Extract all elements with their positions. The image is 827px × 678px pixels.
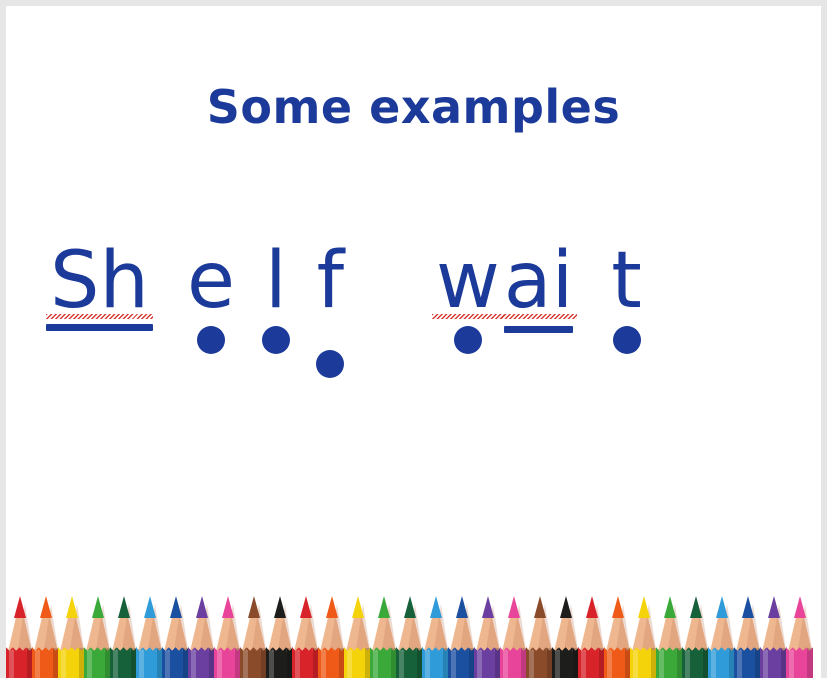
window-edge-top-inner	[6, 6, 821, 9]
pencil-barrel	[266, 652, 293, 678]
pencil-highlight	[61, 650, 66, 678]
pencil-barrel	[760, 652, 787, 678]
pencil-highlight	[789, 650, 794, 678]
pencil-highlight	[87, 650, 92, 678]
grapheme-sh[interactable]: Sh	[48, 242, 151, 320]
pencil-highlight	[399, 650, 404, 678]
pencil-lead-tip	[586, 596, 598, 618]
grapheme-e-letters: e	[185, 242, 237, 320]
pencil-lead-tip	[742, 596, 754, 618]
pencil-lead-tip	[66, 596, 78, 618]
pencil-barrel	[370, 652, 397, 678]
pencil-lead-tip	[352, 596, 364, 618]
pencil-border-decoration	[6, 578, 821, 678]
word-examples-row: Sh e l f	[6, 242, 821, 422]
pencil-lead-tip	[274, 596, 286, 618]
pencil-8	[188, 578, 215, 678]
pencil-barrel	[786, 652, 813, 678]
pencil-27	[682, 578, 709, 678]
pencil-lead-tip	[638, 596, 650, 618]
pencil-20	[500, 578, 527, 678]
pencil-24	[604, 578, 631, 678]
pencil-lead-tip	[508, 596, 520, 618]
pencil-lead-tip	[430, 596, 442, 618]
pencil-barrel	[318, 652, 345, 678]
pencil-barrel	[448, 652, 475, 678]
pencil-barrel	[396, 652, 423, 678]
grapheme-l[interactable]: l	[263, 242, 289, 320]
pencil-lead-tip	[378, 596, 390, 618]
pencil-barrel	[292, 652, 319, 678]
slide-window: Some examples Sh e l	[0, 0, 827, 678]
pencil-29	[734, 578, 761, 678]
pencil-highlight	[555, 650, 560, 678]
pencil-barrel	[214, 652, 241, 678]
pencil-10	[240, 578, 267, 678]
pencil-31	[786, 578, 813, 678]
pencil-lead-tip	[534, 596, 546, 618]
pencil-barrel	[162, 652, 189, 678]
grapheme-ai-letters: ai	[502, 242, 575, 320]
pencil-7	[162, 578, 189, 678]
pencil-4	[84, 578, 111, 678]
pencil-23	[578, 578, 605, 678]
pencil-5	[110, 578, 137, 678]
pencil-highlight	[581, 650, 586, 678]
pencil-barrel	[422, 652, 449, 678]
pencil-barrel	[500, 652, 527, 678]
pencil-3	[58, 578, 85, 678]
pencil-barrel	[84, 652, 111, 678]
digraph-bar-sh[interactable]	[46, 324, 153, 331]
pencil-barrel	[604, 652, 631, 678]
sound-dot-w[interactable]	[454, 326, 482, 354]
pencil-barrel	[682, 652, 709, 678]
pencil-highlight	[763, 650, 768, 678]
pencil-barrel	[188, 652, 215, 678]
pencil-highlight	[217, 650, 222, 678]
pencil-highlight	[685, 650, 690, 678]
word-shelf: Sh e l f	[48, 242, 346, 320]
pencil-barrel	[58, 652, 85, 678]
pencil-barrel	[526, 652, 553, 678]
pencil-lead-tip	[768, 596, 780, 618]
sound-dot-e[interactable]	[197, 326, 225, 354]
pencil-highlight	[269, 650, 274, 678]
pencil-12	[292, 578, 319, 678]
pencil-26	[656, 578, 683, 678]
pencil-highlight	[477, 650, 482, 678]
pencil-highlight	[295, 650, 300, 678]
pencil-highlight	[9, 650, 14, 678]
pencil-barrel	[630, 652, 657, 678]
sound-dot-t[interactable]	[613, 326, 641, 354]
pencil-lead-tip	[482, 596, 494, 618]
pencil-highlight	[711, 650, 716, 678]
pencil-highlight	[321, 650, 326, 678]
pencil-barrel	[578, 652, 605, 678]
pencil-highlight	[113, 650, 118, 678]
pencil-16	[396, 578, 423, 678]
pencil-highlight	[607, 650, 612, 678]
pencil-highlight	[347, 650, 352, 678]
pencil-barrel	[32, 652, 59, 678]
pencil-14	[344, 578, 371, 678]
pencil-15	[370, 578, 397, 678]
grapheme-t-letters: t	[609, 242, 644, 320]
pencil-lead-tip	[456, 596, 468, 618]
pencil-highlight	[425, 650, 430, 678]
digraph-bar-ai[interactable]	[504, 326, 573, 333]
pencil-lead-tip	[144, 596, 156, 618]
pencil-lead-tip	[196, 596, 208, 618]
pencil-6	[136, 578, 163, 678]
grapheme-l-letters: l	[263, 242, 289, 320]
pencil-22	[552, 578, 579, 678]
pencil-19	[474, 578, 501, 678]
pencil-lead-tip	[222, 596, 234, 618]
pencil-lead-tip	[300, 596, 312, 618]
pencil-lead-tip	[40, 596, 52, 618]
pencil-13	[318, 578, 345, 678]
pencil-shading	[807, 648, 813, 678]
pencil-highlight	[139, 650, 144, 678]
pencil-barrel	[474, 652, 501, 678]
pencil-21	[526, 578, 553, 678]
pencil-barrel	[656, 652, 683, 678]
grapheme-w[interactable]: w	[434, 242, 502, 320]
grapheme-w-letters: w	[434, 242, 502, 320]
pencil-barrel	[240, 652, 267, 678]
pencil-barrel	[708, 652, 735, 678]
pencil-lead-tip	[716, 596, 728, 618]
pencil-barrel	[344, 652, 371, 678]
pencil-highlight	[633, 650, 638, 678]
slide-canvas: Some examples Sh e l	[6, 6, 821, 678]
pencil-lead-tip	[326, 596, 338, 618]
sound-dot-l[interactable]	[262, 326, 290, 354]
pencil-lead-tip	[14, 596, 26, 618]
window-edge-left	[0, 0, 6, 678]
grapheme-f-letters: f	[315, 242, 346, 320]
pencil-1	[6, 578, 33, 678]
pencil-barrel	[110, 652, 137, 678]
pencil-11	[266, 578, 293, 678]
pencil-barrel	[6, 652, 33, 678]
grapheme-t[interactable]: t	[609, 242, 644, 320]
pencil-lead-tip	[248, 596, 260, 618]
pencil-28	[708, 578, 735, 678]
grapheme-sh-letters: Sh	[48, 242, 151, 320]
pencil-highlight	[737, 650, 742, 678]
pencil-highlight	[191, 650, 196, 678]
sound-dot-f[interactable]	[316, 350, 344, 378]
pencil-18	[448, 578, 475, 678]
pencil-highlight	[243, 650, 248, 678]
pencil-30	[760, 578, 787, 678]
window-edge-right	[821, 0, 827, 678]
page-title: Some examples	[6, 84, 821, 130]
pencil-barrel	[734, 652, 761, 678]
word-wait: w ai t	[434, 242, 644, 320]
pencil-lead-tip	[170, 596, 182, 618]
pencil-25	[630, 578, 657, 678]
grapheme-f[interactable]: f	[315, 242, 346, 320]
pencil-highlight	[503, 650, 508, 678]
pencil-lead-tip	[118, 596, 130, 618]
pencil-lead-tip	[92, 596, 104, 618]
pencil-lead-tip	[794, 596, 806, 618]
pencil-2	[32, 578, 59, 678]
pencil-lead-tip	[560, 596, 572, 618]
grapheme-e[interactable]: e	[185, 242, 237, 320]
pencil-9	[214, 578, 241, 678]
pencil-lead-tip	[612, 596, 624, 618]
pencil-highlight	[529, 650, 534, 678]
pencil-17	[422, 578, 449, 678]
pencil-lead-tip	[690, 596, 702, 618]
pencil-highlight	[659, 650, 664, 678]
pencil-highlight	[451, 650, 456, 678]
grapheme-ai[interactable]: ai	[502, 242, 575, 320]
pencil-highlight	[165, 650, 170, 678]
pencil-lead-tip	[404, 596, 416, 618]
pencil-barrel	[136, 652, 163, 678]
pencil-lead-tip	[664, 596, 676, 618]
pencil-barrel	[552, 652, 579, 678]
pencil-highlight	[35, 650, 40, 678]
pencil-highlight	[373, 650, 378, 678]
